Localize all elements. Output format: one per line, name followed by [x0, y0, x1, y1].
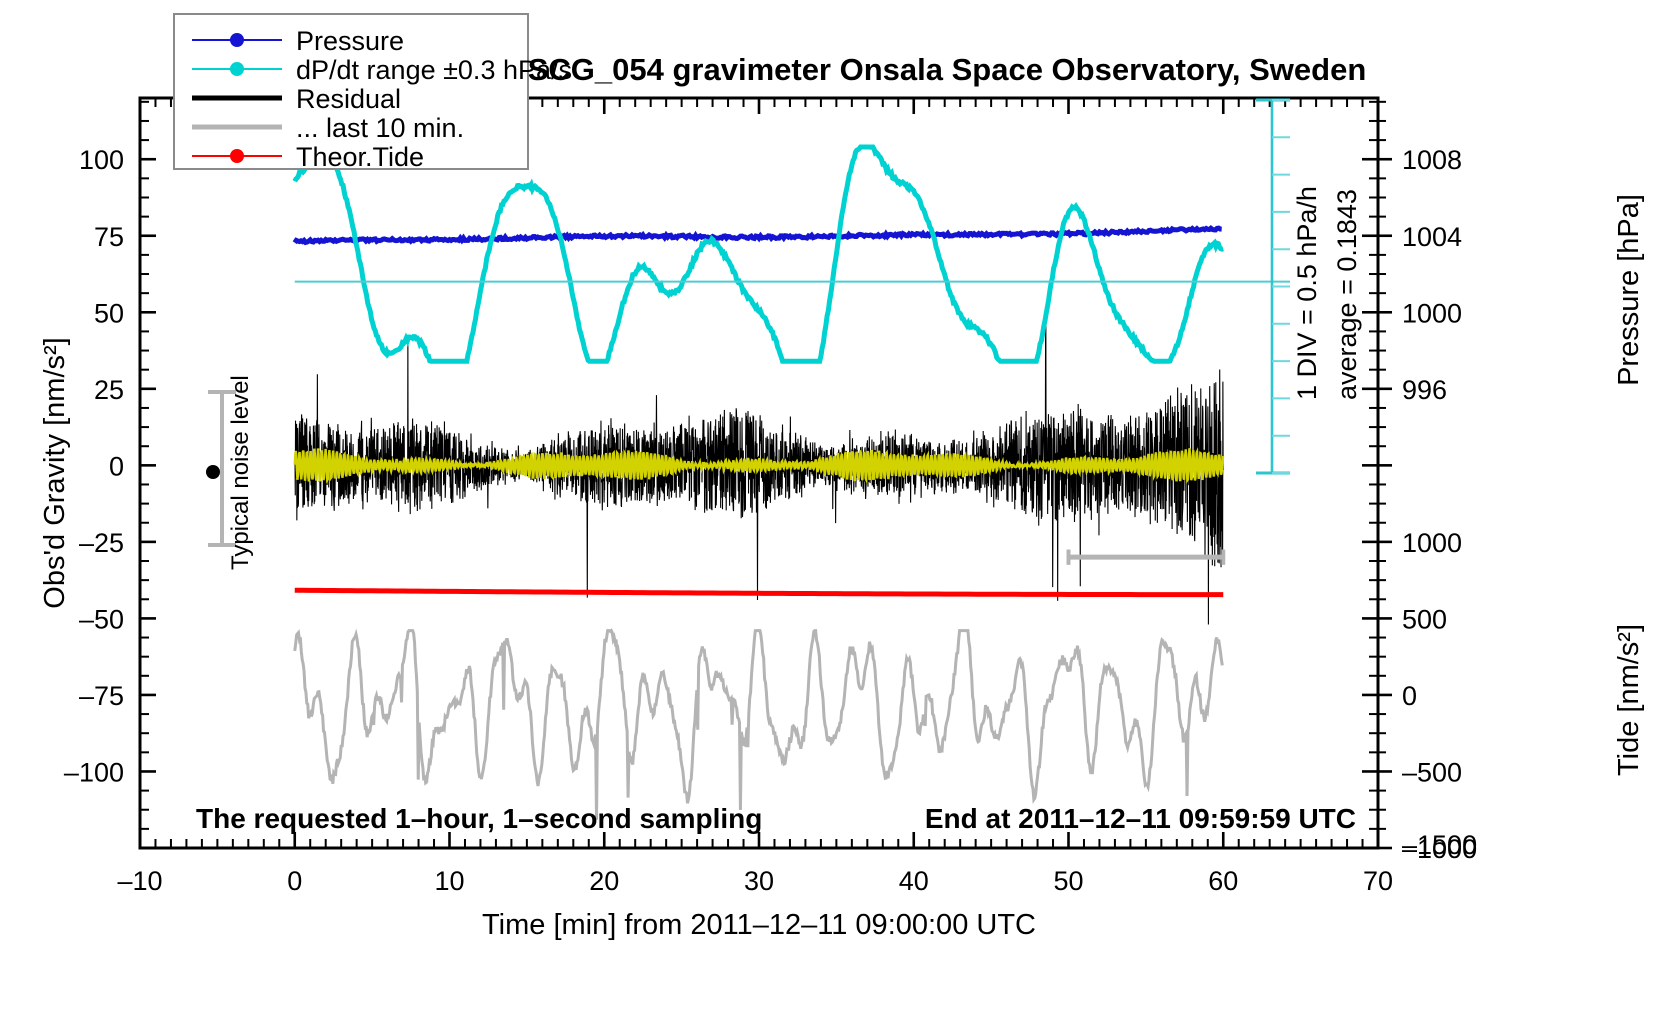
y-tick-label: 0: [109, 451, 124, 481]
tide-tick-label: 500: [1402, 604, 1447, 634]
right-axis-title-pressure: Pressure [hPa]: [1613, 194, 1645, 386]
y-tick-label: 75: [94, 222, 124, 252]
y-tick-label: –25: [79, 528, 124, 558]
x-tick-label: 70: [1363, 866, 1393, 896]
page-title: SCG_054 gravimeter Onsala Space Observat…: [528, 52, 1367, 87]
x-tick-label: 20: [589, 866, 619, 896]
pressure-tick-label: 1000: [1402, 298, 1462, 328]
x-tick-label: 60: [1208, 866, 1238, 896]
div-scale-label: 1 DIV = 0.5 hPa/h: [1292, 186, 1322, 400]
noise-center-dot: [206, 465, 220, 479]
x-tick-label: 10: [434, 866, 464, 896]
y-tick-label: 50: [94, 298, 124, 328]
tide-tick-label: –1500: [1402, 830, 1477, 860]
tide-tick-label: 0: [1402, 681, 1417, 711]
legend-item-label[interactable]: Theor.Tide: [296, 142, 424, 172]
legend-item-label[interactable]: dP/dt range ±0.3 hPa/s: [296, 55, 572, 85]
chart-page: –10010203040506070 1007550250–25–50–75–1…: [0, 0, 1676, 1020]
y-tick-label: 100: [79, 145, 124, 175]
right-axis-title-tide: Tide [nm/s²]: [1613, 624, 1645, 776]
gravimeter-chart: –10010203040506070 1007550250–25–50–75–1…: [0, 0, 1676, 1020]
legend-item-label[interactable]: Residual: [296, 84, 401, 114]
y-tick-label: –75: [79, 681, 124, 711]
tide-tick-label: 1000: [1402, 528, 1462, 558]
end-time-annotation: End at 2011–12–11 09:59:59 UTC: [925, 803, 1356, 834]
dpdt-average-label: average = 0.1843: [1332, 189, 1362, 400]
x-tick-label: –10: [117, 866, 162, 896]
chart-legend: PressuredP/dt range ±0.3 hPa/sResidual..…: [174, 14, 572, 172]
typical-noise-label: Typical noise level: [227, 375, 254, 570]
y-tick-label: –50: [79, 604, 124, 634]
legend-item-label[interactable]: ... last 10 min.: [296, 113, 464, 143]
y-tick-label: 25: [94, 375, 124, 405]
y-axis-title: Obs'd Gravity [nm/s²]: [39, 337, 71, 608]
pressure-tick-label: 1008: [1402, 145, 1462, 175]
x-tick-label: 50: [1053, 866, 1083, 896]
tide-tick-label: –500: [1402, 757, 1462, 787]
y-tick-label: –100: [64, 757, 124, 787]
pressure-tick-label: 1004: [1402, 222, 1462, 252]
pressure-tick-label: 996: [1402, 375, 1447, 405]
x-axis-title: Time [min] from 2011–12–11 09:00:00 UTC: [482, 909, 1036, 941]
legend-swatch-marker: [230, 33, 244, 47]
sampling-annotation: The requested 1–hour, 1–second sampling: [196, 803, 762, 834]
x-tick-label: 0: [287, 866, 302, 896]
legend-swatch-marker: [230, 62, 244, 76]
x-tick-label: 40: [899, 866, 929, 896]
legend-swatch-marker: [230, 149, 244, 163]
x-tick-label: 30: [744, 866, 774, 896]
legend-item-label[interactable]: Pressure: [296, 26, 404, 56]
